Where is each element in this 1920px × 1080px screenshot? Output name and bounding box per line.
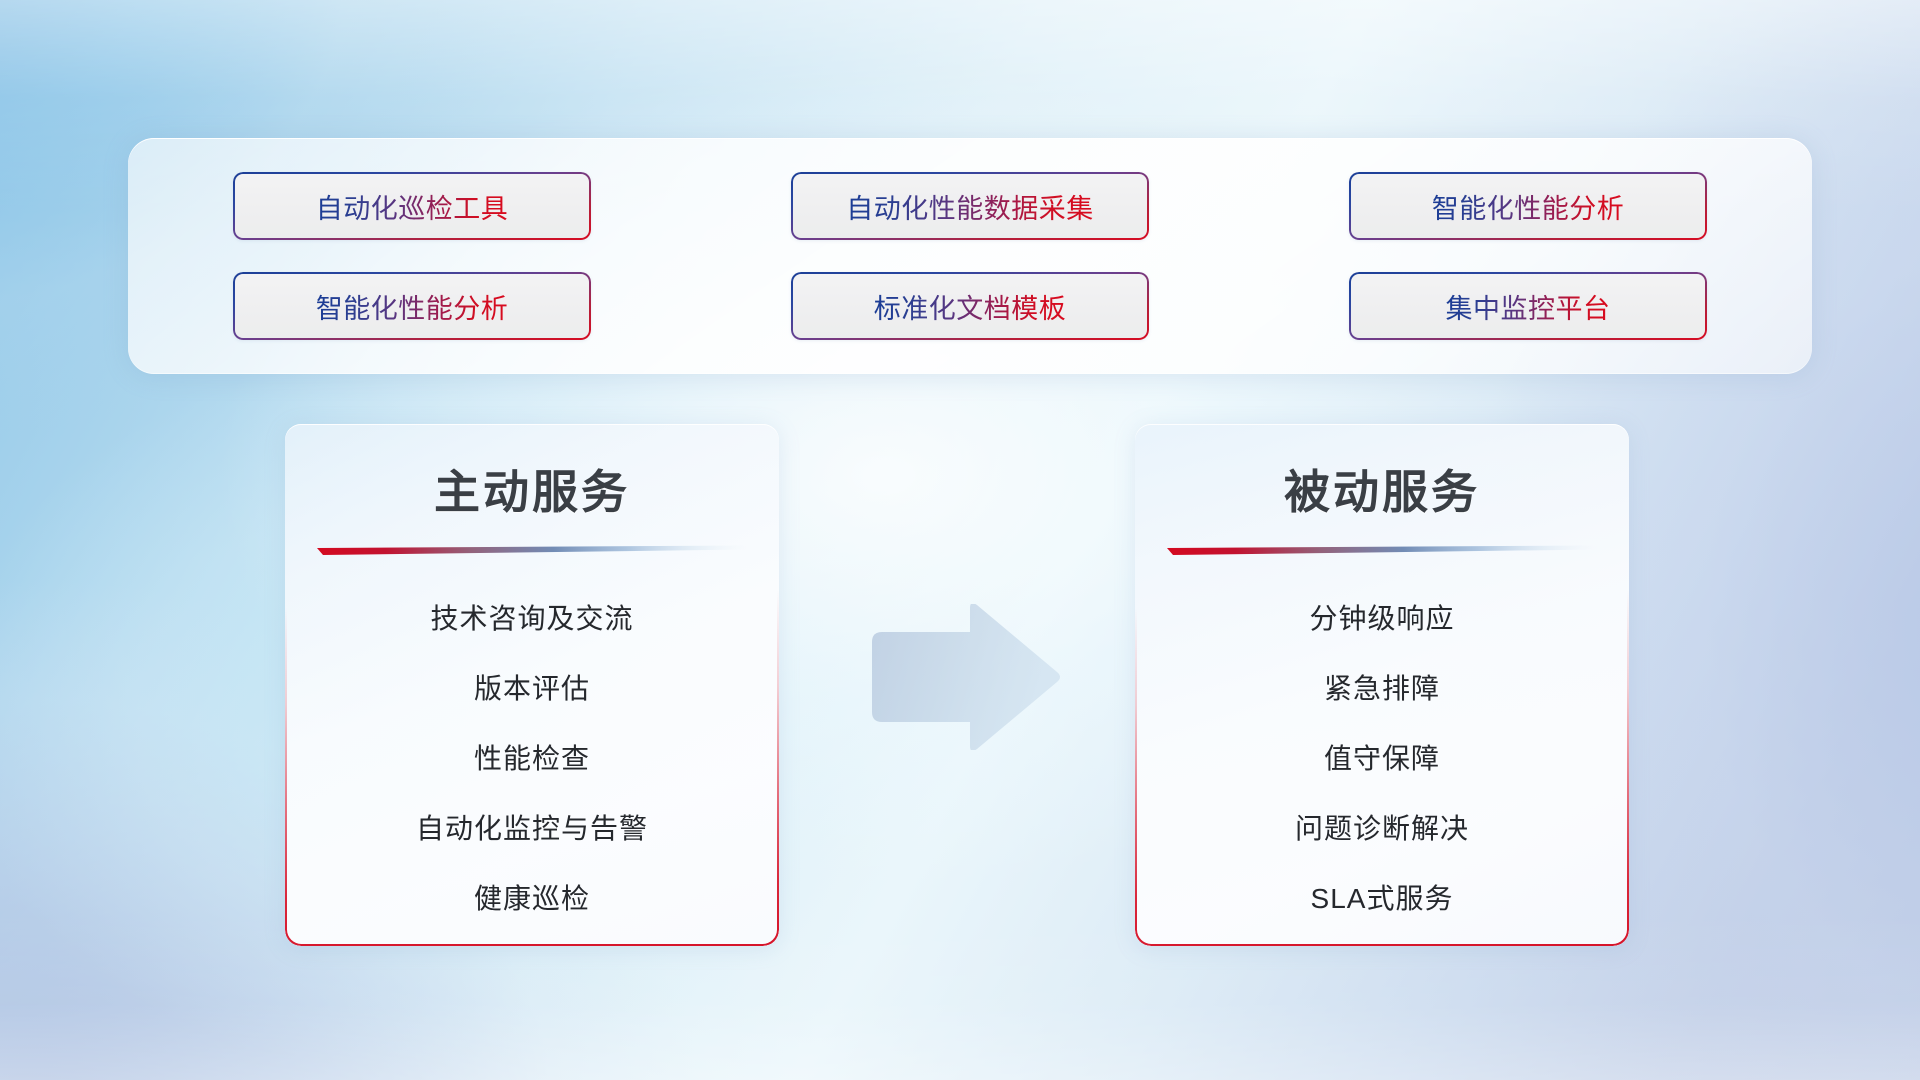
arrow-right-icon [862,604,1062,750]
capability-button-label: 标准化文档模板 [874,287,1067,326]
capability-panel: 自动化巡检工具 自动化性能数据采集 智能化性能分析 智能化性能分析 标准化文档模… [128,138,1812,374]
service-item: 值守保障 [1135,724,1629,794]
card-divider [1167,544,1597,558]
capability-row-2: 智能化性能分析 标准化文档模板 集中监控平台 [128,272,1812,340]
capability-button-label: 自动化性能数据采集 [846,187,1094,226]
service-item: 问题诊断解决 [1135,794,1629,864]
capability-button-label: 智能化性能分析 [1432,187,1625,226]
service-item: SLA式服务 [1135,864,1629,934]
card-divider [317,544,747,558]
capability-button-centralized-monitoring-platform[interactable]: 集中监控平台 [1349,272,1707,340]
capability-button-label: 自动化巡检工具 [316,187,509,226]
capability-button-label: 智能化性能分析 [316,287,509,326]
service-item-list: 分钟级响应 紧急排障 值守保障 问题诊断解决 SLA式服务 [1135,584,1629,934]
service-item: 性能检查 [285,724,779,794]
service-card-reactive: 被动服务 分钟级响应 紧急排障 [1135,424,1629,946]
capability-button-automated-performance-data-collection[interactable]: 自动化性能数据采集 [791,172,1149,240]
service-item: 自动化监控与告警 [285,794,779,864]
capability-button-automated-inspection-tool[interactable]: 自动化巡检工具 [233,172,591,240]
capability-button-label: 集中监控平台 [1446,287,1611,326]
slide-canvas: 自动化巡检工具 自动化性能数据采集 智能化性能分析 智能化性能分析 标准化文档模… [0,0,1920,1080]
card-title: 主动服务 [285,456,779,522]
service-item: 分钟级响应 [1135,584,1629,654]
capability-button-intelligent-performance-analysis[interactable]: 智能化性能分析 [1349,172,1707,240]
service-card-proactive: 主动服务 技术咨询及交流 版本评估 [285,424,779,946]
service-item: 技术咨询及交流 [285,584,779,654]
capability-row-1: 自动化巡检工具 自动化性能数据采集 智能化性能分析 [128,172,1812,240]
capability-button-standardized-document-template[interactable]: 标准化文档模板 [791,272,1149,340]
service-item: 健康巡检 [285,864,779,934]
capability-button-intelligent-performance-analysis-2[interactable]: 智能化性能分析 [233,272,591,340]
service-item: 版本评估 [285,654,779,724]
service-item-list: 技术咨询及交流 版本评估 性能检查 自动化监控与告警 健康巡检 [285,584,779,934]
card-title: 被动服务 [1135,456,1629,522]
service-item: 紧急排障 [1135,654,1629,724]
